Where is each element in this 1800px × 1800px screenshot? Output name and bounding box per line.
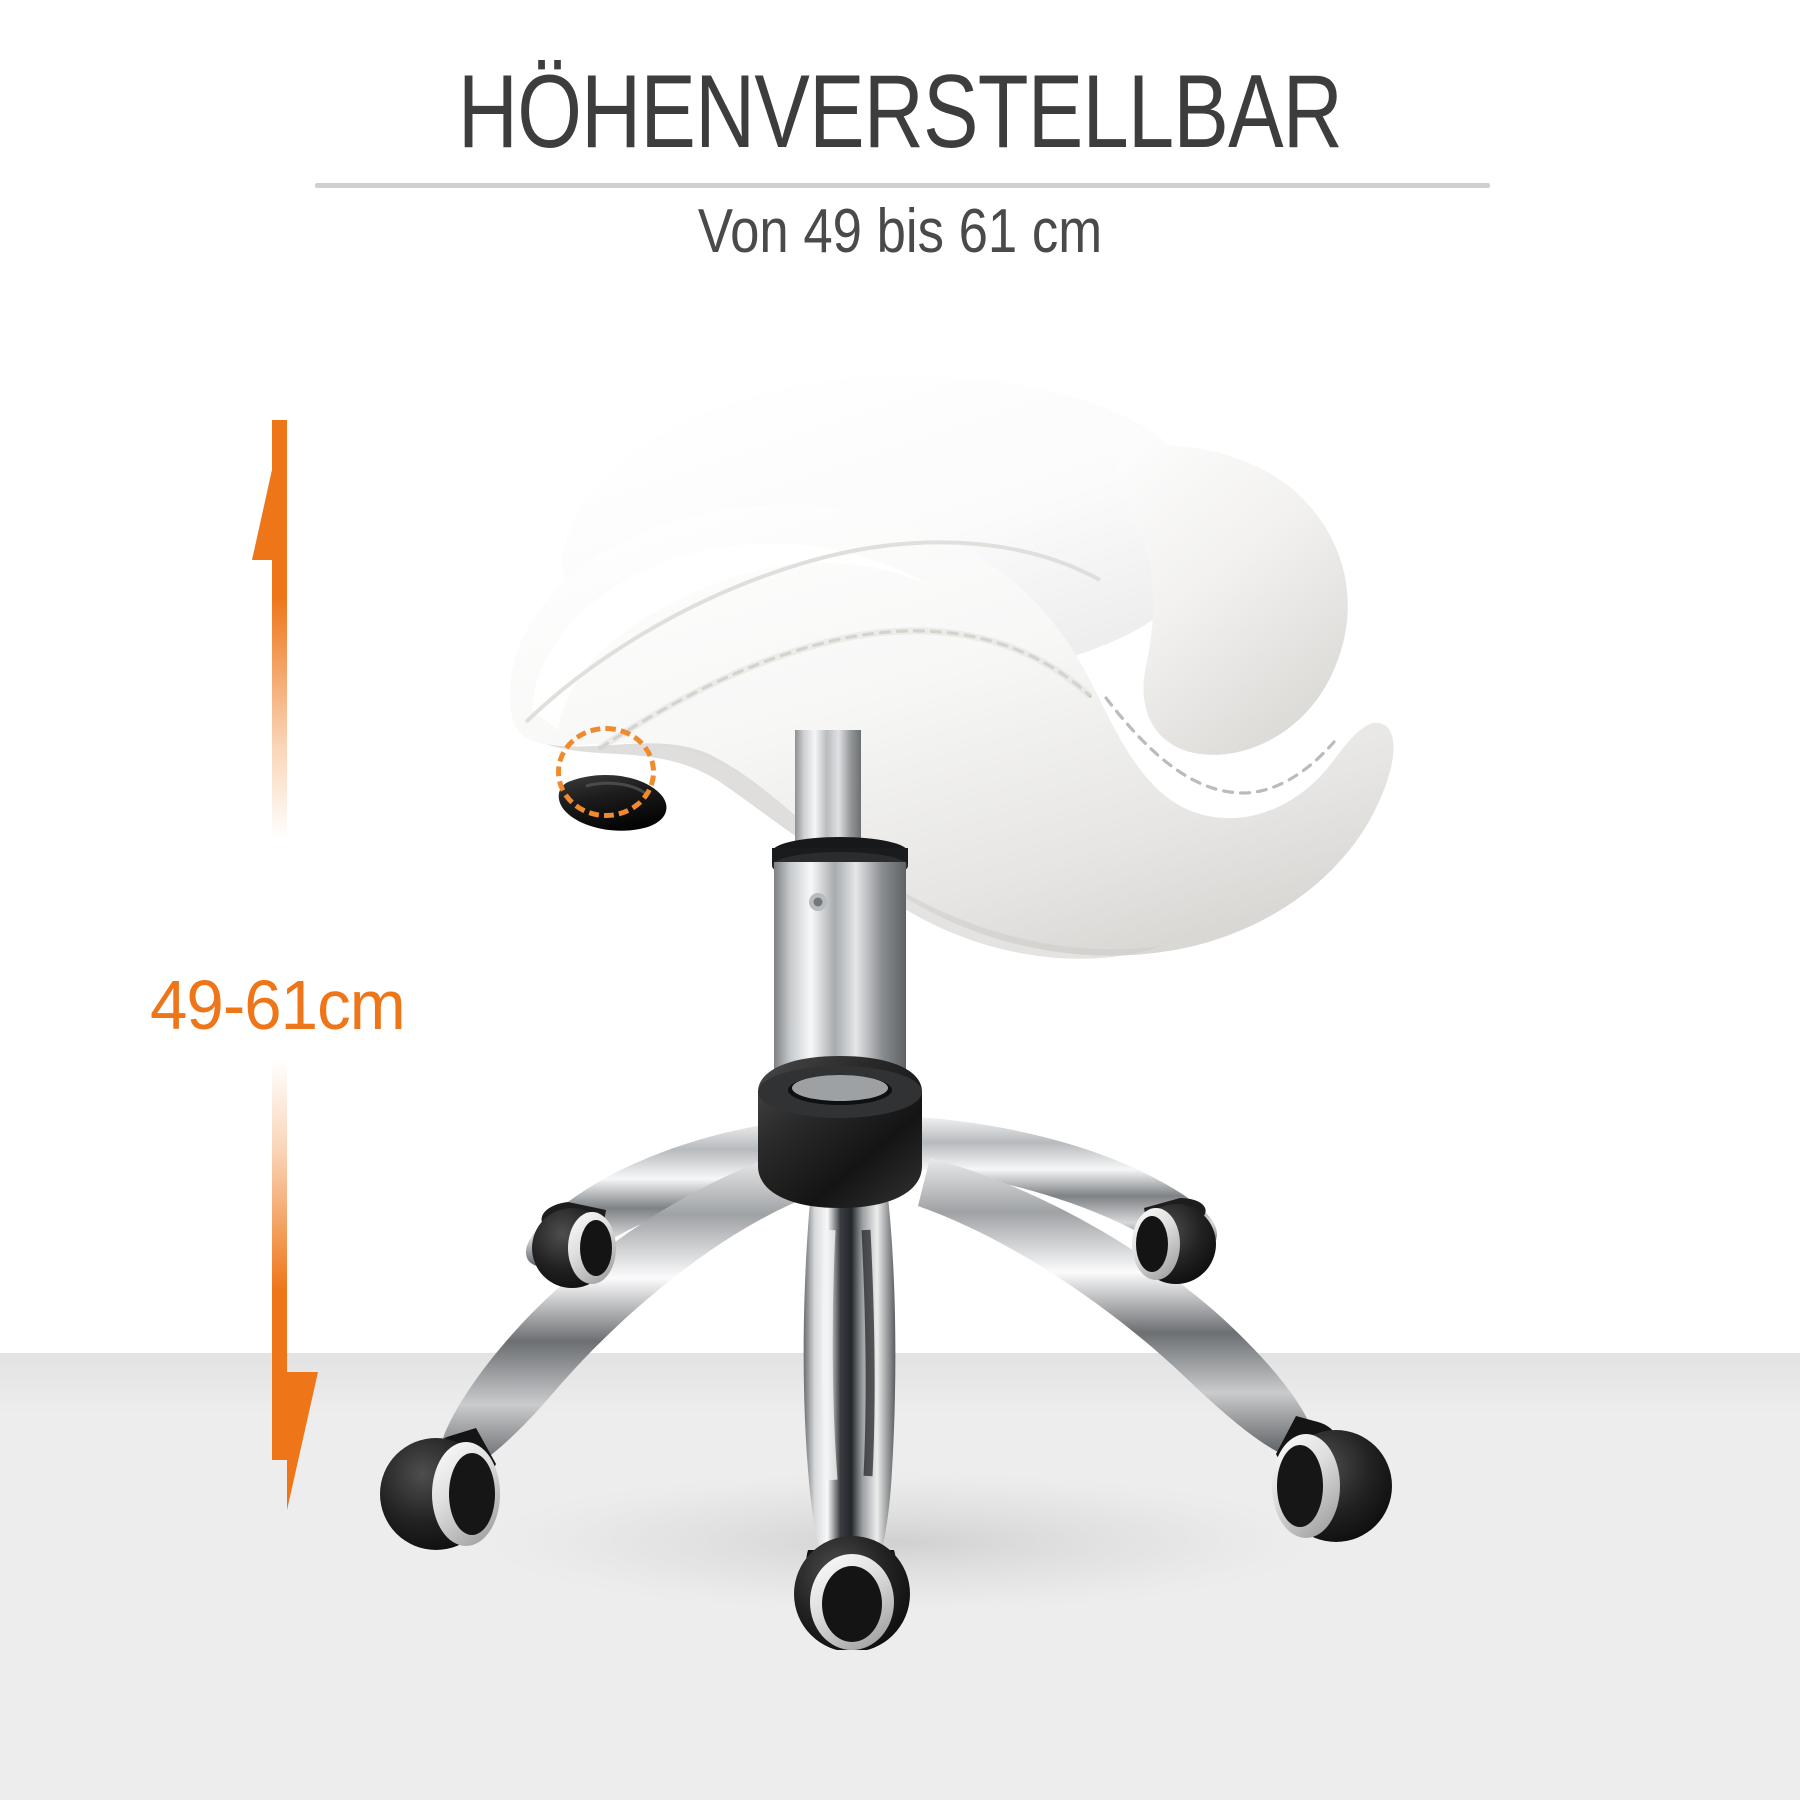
base-leg-front	[804, 1180, 896, 1598]
page-subtitle: Von 49 bis 61 cm	[135, 196, 1665, 267]
caster-tread-bl	[580, 1220, 612, 1276]
caster-tread-br	[1136, 1216, 1168, 1272]
base-hub-bore-chrome	[792, 1075, 888, 1101]
front-leg-highlight	[827, 1230, 832, 1480]
title-divider	[315, 183, 1490, 188]
caster-left	[380, 1428, 500, 1550]
caster-tread-l	[449, 1453, 495, 1535]
caster-right	[1272, 1416, 1392, 1542]
cylinder-piston-rod	[795, 730, 861, 850]
infographic-canvas: HÖHENVERSTELLBAR Von 49 bis 61 cm	[0, 0, 1800, 1800]
saddle-stool-illustration	[300, 330, 1480, 1650]
caster-tread-f	[822, 1566, 882, 1642]
caster-tread-r	[1277, 1445, 1323, 1527]
caster-back-right	[1132, 1198, 1216, 1284]
cylinder-screw-slot	[814, 898, 823, 907]
page-title: HÖHENVERSTELLBAR	[180, 60, 1620, 164]
lever-callout-ring	[556, 726, 656, 818]
front-leg-shade	[866, 1230, 870, 1476]
header-block: HÖHENVERSTELLBAR Von 49 bis 61 cm	[0, 0, 1800, 300]
caster-front	[794, 1536, 910, 1650]
arrow-shaft-upper	[272, 420, 287, 840]
arrowhead-up-icon	[252, 420, 283, 560]
caster-back-left	[532, 1202, 616, 1288]
saddle-seat	[510, 376, 1394, 959]
